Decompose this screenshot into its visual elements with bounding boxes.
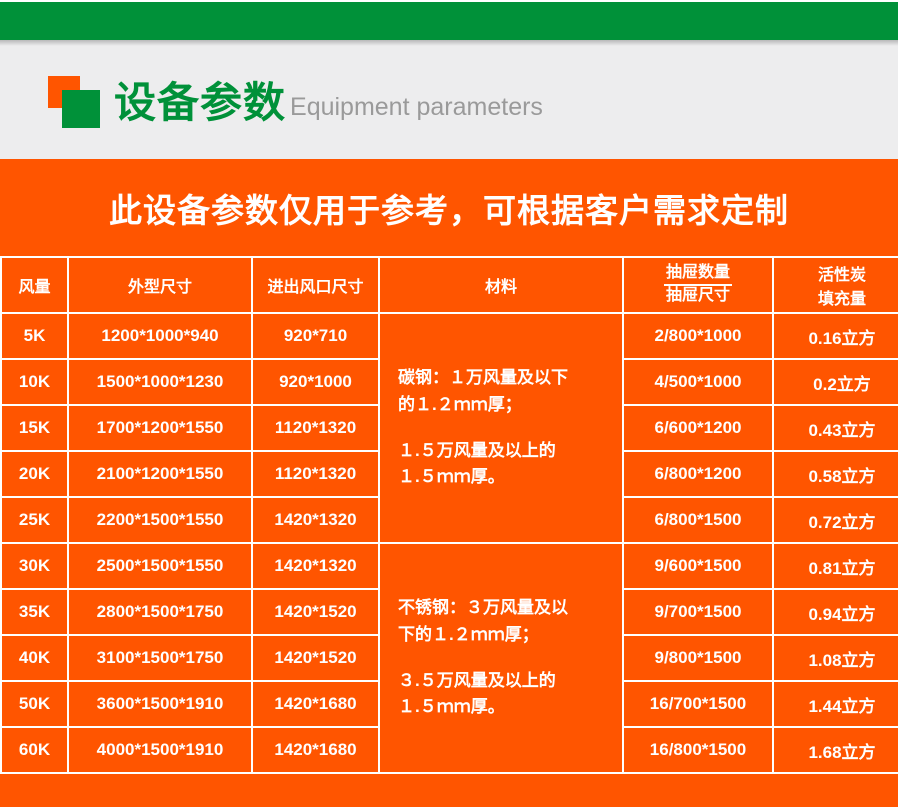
cell-flow: 10K (1, 359, 68, 405)
cell-drawer: 6/600*1200 (623, 405, 773, 451)
material-text-gap (398, 418, 612, 438)
cell-flow: 30K (1, 543, 68, 589)
cell-dimension: 2500*1500*1550 (68, 543, 252, 589)
cell-drawer: 9/600*1500 (623, 543, 773, 589)
column-header-flow: 风量 (1, 257, 68, 313)
cell-flow: 25K (1, 497, 68, 543)
cell-dimension: 3600*1500*1910 (68, 681, 252, 727)
drawer-size-label: 抽屉尺寸 (664, 286, 732, 306)
material-text-line4: １.５ｍｍ厚。 (398, 464, 612, 490)
material-text-line1: 碳钢：１万风量及以下 (398, 365, 612, 391)
cell-drawer: 6/800*1500 (623, 497, 773, 543)
cell-port: 920*710 (252, 313, 379, 359)
cell-carbon: 1.68立方 (773, 727, 898, 773)
table-body: 5K1200*1000*940920*710碳钢：１万风量及以下的１.２ｍｍ厚；… (1, 313, 898, 773)
cell-carbon: 0.72立方 (773, 497, 898, 543)
carbon-label-line2: 填充量 (818, 291, 866, 308)
cell-drawer: 9/800*1500 (623, 635, 773, 681)
logo-green-square-icon (62, 90, 100, 128)
table-header: 风量 外型尺寸 进出风口尺寸 材料 抽屉数量 抽屉尺寸 活性炭 填充量 (1, 257, 898, 313)
cell-dimension: 2200*1500*1550 (68, 497, 252, 543)
cell-dimension: 2100*1200*1550 (68, 451, 252, 497)
column-header-dimension: 外型尺寸 (68, 257, 252, 313)
cell-flow: 50K (1, 681, 68, 727)
drawer-fraction: 抽屉数量 抽屉尺寸 (664, 264, 732, 306)
material-text-gap (398, 648, 612, 668)
page-title: 设备参数 (114, 82, 286, 124)
material-text-line4: １.５ｍｍ厚。 (398, 694, 612, 720)
cell-port: 1420*1320 (252, 543, 379, 589)
cell-carbon: 0.16立方 (773, 313, 898, 359)
cell-carbon: 0.94立方 (773, 589, 898, 635)
cell-port: 1420*1520 (252, 635, 379, 681)
cell-port: 1420*1680 (252, 727, 379, 773)
cell-dimension: 4000*1500*1910 (68, 727, 252, 773)
cell-flow: 60K (1, 727, 68, 773)
cell-flow: 5K (1, 313, 68, 359)
cell-port: 1420*1520 (252, 589, 379, 635)
cell-flow: 20K (1, 451, 68, 497)
material-text-line1: 不锈钢：３万风量及以 (398, 595, 612, 621)
bottom-filler (0, 774, 898, 807)
material-text-line2: 下的１.２ｍｍ厚； (398, 622, 612, 648)
cell-port: 1120*1320 (252, 451, 379, 497)
cell-carbon: 0.43立方 (773, 405, 898, 451)
table-row: 30K2500*1500*15501420*1320不锈钢：３万风量及以下的１.… (1, 543, 898, 589)
notice-banner-text: 此设备参数仅用于参考，可根据客户需求定制 (109, 184, 789, 232)
cell-drawer: 9/700*1500 (623, 589, 773, 635)
cell-dimension: 1200*1000*940 (68, 313, 252, 359)
squares-logo-icon (48, 76, 106, 134)
cell-drawer: 4/500*1000 (623, 359, 773, 405)
cell-dimension: 1700*1200*1550 (68, 405, 252, 451)
cell-drawer: 16/700*1500 (623, 681, 773, 727)
table-row: 5K1200*1000*940920*710碳钢：１万风量及以下的１.２ｍｍ厚；… (1, 313, 898, 359)
carbon-label-line1: 活性炭 (818, 267, 866, 284)
cell-carbon: 0.58立方 (773, 451, 898, 497)
specifications-table: 风量 外型尺寸 进出风口尺寸 材料 抽屉数量 抽屉尺寸 活性炭 填充量 5K12… (0, 256, 898, 774)
column-header-drawer: 抽屉数量 抽屉尺寸 (623, 257, 773, 313)
notice-banner: 此设备参数仅用于参考，可根据客户需求定制 (0, 159, 898, 256)
top-green-bar (0, 0, 898, 40)
cell-flow: 35K (1, 589, 68, 635)
cell-carbon: 0.2立方 (773, 359, 898, 405)
drawer-count-label: 抽屉数量 (664, 264, 732, 286)
cell-flow: 15K (1, 405, 68, 451)
material-text-line3: ３.５万风量及以上的 (398, 668, 612, 694)
column-header-carbon: 活性炭 填充量 (773, 257, 898, 313)
section-header: 设备参数 Equipment parameters (0, 46, 898, 159)
page-root: 设备参数 Equipment parameters 此设备参数仅用于参考，可根据… (0, 0, 898, 807)
cell-carbon: 0.81立方 (773, 543, 898, 589)
cell-port: 1120*1320 (252, 405, 379, 451)
cell-flow: 40K (1, 635, 68, 681)
column-header-port: 进出风口尺寸 (252, 257, 379, 313)
cell-port: 920*1000 (252, 359, 379, 405)
page-subtitle: Equipment parameters (290, 85, 543, 120)
cell-material: 不锈钢：３万风量及以下的１.２ｍｍ厚；３.５万风量及以上的１.５ｍｍ厚。 (379, 543, 623, 773)
cell-port: 1420*1680 (252, 681, 379, 727)
material-text-line3: １.５万风量及以上的 (398, 438, 612, 464)
cell-carbon: 1.44立方 (773, 681, 898, 727)
cell-drawer: 6/800*1200 (623, 451, 773, 497)
table-header-row: 风量 外型尺寸 进出风口尺寸 材料 抽屉数量 抽屉尺寸 活性炭 填充量 (1, 257, 898, 313)
cell-dimension: 3100*1500*1750 (68, 635, 252, 681)
cell-carbon: 1.08立方 (773, 635, 898, 681)
cell-port: 1420*1320 (252, 497, 379, 543)
cell-material: 碳钢：１万风量及以下的１.２ｍｍ厚；１.５万风量及以上的１.５ｍｍ厚。 (379, 313, 623, 543)
cell-drawer: 16/800*1500 (623, 727, 773, 773)
cell-drawer: 2/800*1000 (623, 313, 773, 359)
material-text-line2: 的１.２ｍｍ厚； (398, 392, 612, 418)
cell-dimension: 2800*1500*1750 (68, 589, 252, 635)
column-header-material: 材料 (379, 257, 623, 313)
cell-dimension: 1500*1000*1230 (68, 359, 252, 405)
